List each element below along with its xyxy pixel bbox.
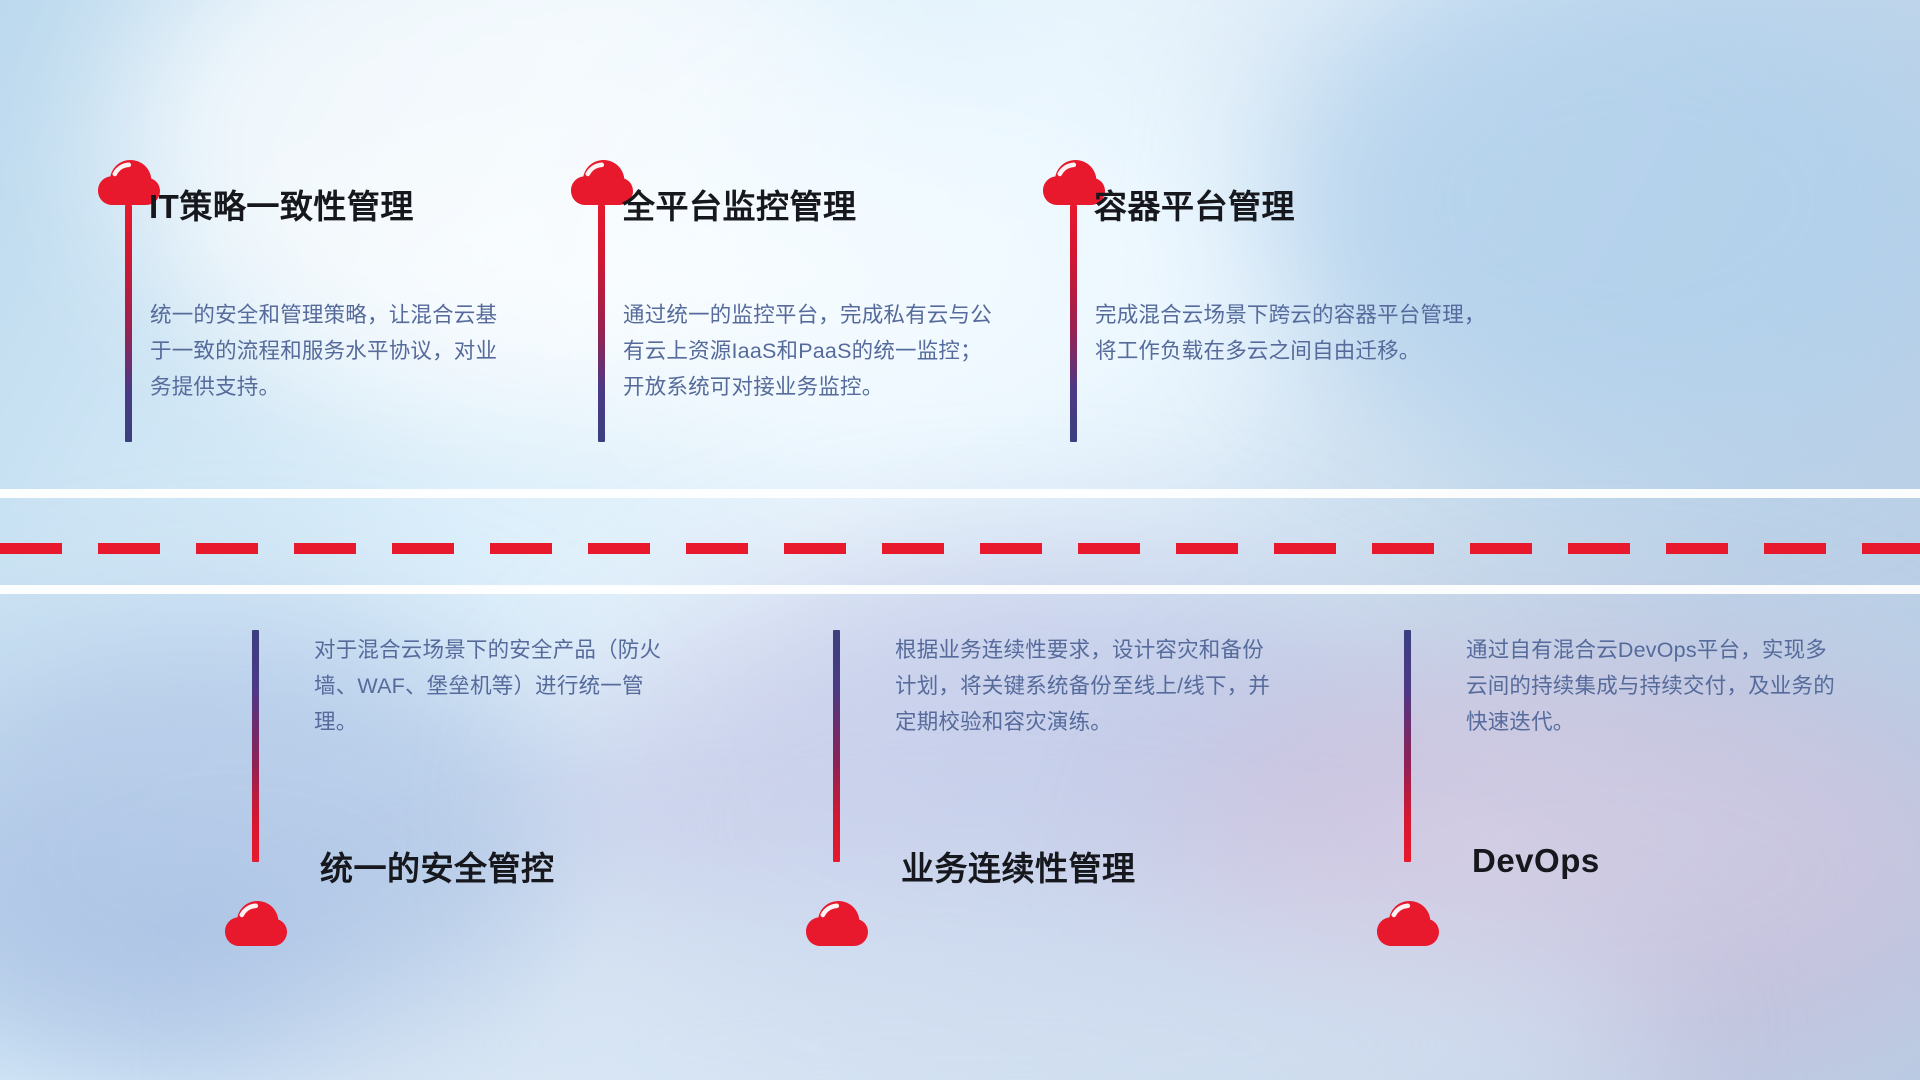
divider-line-bottom: [0, 585, 1920, 594]
divider-line-top: [0, 489, 1920, 498]
item-description: 通过自有混合云DevOps平台，实现多云间的持续集成与持续交付，及业务的快速迭代…: [1466, 632, 1838, 740]
item-description: 对于混合云场景下的安全产品（防火墙、WAF、堡垒机等）进行统一管理。: [314, 632, 682, 740]
item-title: 统一的安全管控: [320, 842, 555, 890]
cloud-icon: [806, 901, 868, 947]
dashed-timeline-divider: [0, 543, 1920, 554]
connector-stem: [252, 630, 259, 862]
item-description: 统一的安全和管理策略，让混合云基于一致的流程和服务水平协议，对业务提供支持。: [150, 297, 518, 405]
connector-stem: [125, 205, 132, 442]
item-description: 通过统一的监控平台，完成私有云与公有云上资源IaaS和PaaS的统一监控；开放系…: [623, 297, 995, 405]
background-sheen: [0, 0, 1920, 1080]
connector-stem: [1404, 630, 1411, 862]
cloud-icon: [1377, 901, 1439, 947]
connector-stem: [598, 205, 605, 442]
item-description: 完成混合云场景下跨云的容器平台管理，将工作负载在多云之间自由迁移。: [1095, 297, 1495, 369]
item-title: 全平台监控管理: [622, 180, 857, 228]
item-title: IT策略一致性管理: [149, 180, 414, 228]
cloud-icon: [225, 901, 287, 947]
item-description: 根据业务连续性要求，设计容灾和备份计划，将关键系统备份至线上/线下，并定期校验和…: [895, 632, 1275, 740]
item-title: 业务连续性管理: [901, 842, 1136, 890]
connector-stem: [833, 630, 840, 862]
connector-stem: [1070, 205, 1077, 442]
item-title: 容器平台管理: [1094, 180, 1295, 228]
item-title: DevOps: [1472, 842, 1600, 880]
infographic-canvas: IT策略一致性管理 统一的安全和管理策略，让混合云基于一致的流程和服务水平协议，…: [0, 0, 1920, 1080]
